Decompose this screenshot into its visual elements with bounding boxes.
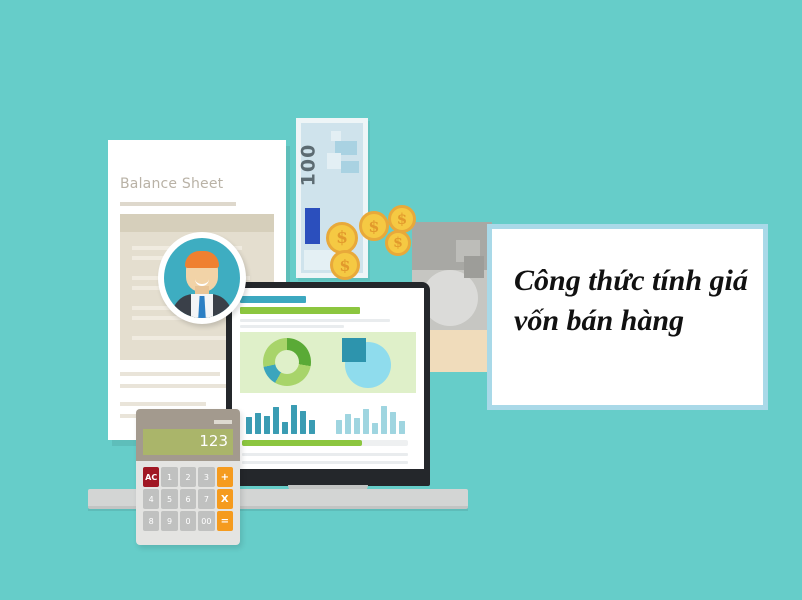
bar (291, 405, 297, 434)
bar (309, 420, 315, 434)
calculator-key-plus[interactable]: + (217, 467, 233, 487)
calculator-top-panel: 123 (136, 409, 240, 461)
bar (363, 409, 369, 434)
calculator-display: 123 (143, 429, 233, 455)
pie-chart (342, 338, 392, 388)
calculator-key-3[interactable]: 3 (198, 467, 214, 487)
banknote-seal (305, 208, 320, 244)
bar (336, 420, 342, 434)
bar (246, 417, 252, 434)
calculator-key-6[interactable]: 6 (180, 489, 196, 509)
banknote-denomination: 100 (297, 144, 319, 187)
bar (345, 414, 351, 434)
bar (273, 407, 279, 434)
laptop-screen (232, 288, 424, 469)
calculator-display-value: 123 (199, 432, 228, 450)
calculator-key-ac[interactable]: AC (143, 467, 159, 487)
screen-text-line (240, 319, 390, 322)
donut-hole (275, 350, 299, 374)
screen-accent-bar-teal (240, 296, 306, 303)
banknote-block-3 (341, 161, 359, 173)
calculator-key-0[interactable]: 0 (180, 511, 196, 531)
bar (282, 422, 288, 434)
bar (255, 413, 261, 434)
calculator-key-7[interactable]: 7 (198, 489, 214, 509)
coin-icon: $ (359, 211, 389, 241)
balance-sheet-title: Balance Sheet (120, 176, 223, 192)
avatar-hair (185, 251, 219, 268)
calculator[interactable]: 123 AC 1 2 3 + 4 5 6 7 X 8 9 0 00 = (136, 409, 240, 545)
bar-chart-right (336, 404, 410, 434)
bar (390, 412, 396, 434)
doc-text-line (120, 372, 220, 376)
coin-icon: $ (385, 230, 411, 256)
calculator-key-double-zero[interactable]: 00 (198, 511, 214, 531)
calculator-key-4[interactable]: 4 (143, 489, 159, 509)
calculator-key-multiply[interactable]: X (217, 489, 233, 509)
calculator-key-2[interactable]: 2 (180, 467, 196, 487)
screen-chart-panel (240, 332, 416, 393)
background-document-circle (422, 270, 478, 326)
avatar-body (164, 238, 240, 318)
illustration-canvas: 100 $ $ $ $ $ Balance Sheet (0, 0, 802, 600)
balance-sheet-underline (120, 202, 236, 206)
bar (372, 423, 378, 434)
laptop (226, 282, 430, 486)
table-header-row (120, 214, 274, 232)
donut-chart (263, 338, 311, 386)
calculator-key-9[interactable]: 9 (161, 511, 177, 531)
progress-fill (242, 440, 362, 446)
bar (354, 418, 360, 434)
screen-text-line (242, 461, 408, 464)
banknote: 100 (296, 118, 368, 278)
pie-slice-exploded (342, 338, 366, 362)
calculator-key-1[interactable]: 1 (161, 467, 177, 487)
bar (399, 421, 405, 434)
bar (381, 406, 387, 434)
bar (300, 411, 306, 434)
background-document-block-2 (464, 256, 484, 278)
screen-text-line (240, 325, 344, 328)
title-text: Công thức tính giá vốn bán hàng (514, 261, 749, 341)
avatar (158, 232, 246, 324)
calculator-keypad[interactable]: AC 1 2 3 + 4 5 6 7 X 8 9 0 00 = (143, 467, 233, 531)
screen-text-line (242, 453, 408, 456)
calculator-key-5[interactable]: 5 (161, 489, 177, 509)
calculator-solar-cell (214, 420, 232, 424)
banknote-block-4 (331, 131, 341, 141)
doc-text-line (120, 402, 206, 406)
title-card: Công thức tính giá vốn bán hàng (487, 224, 768, 410)
bar-chart-left (246, 404, 320, 434)
screen-accent-bar-green (240, 307, 360, 314)
banknote-block-2 (327, 153, 341, 169)
bar (264, 416, 270, 434)
coin-icon: $ (388, 205, 416, 233)
coin-icon: $ (330, 250, 360, 280)
calculator-key-equals[interactable]: = (217, 511, 233, 531)
calculator-key-8[interactable]: 8 (143, 511, 159, 531)
